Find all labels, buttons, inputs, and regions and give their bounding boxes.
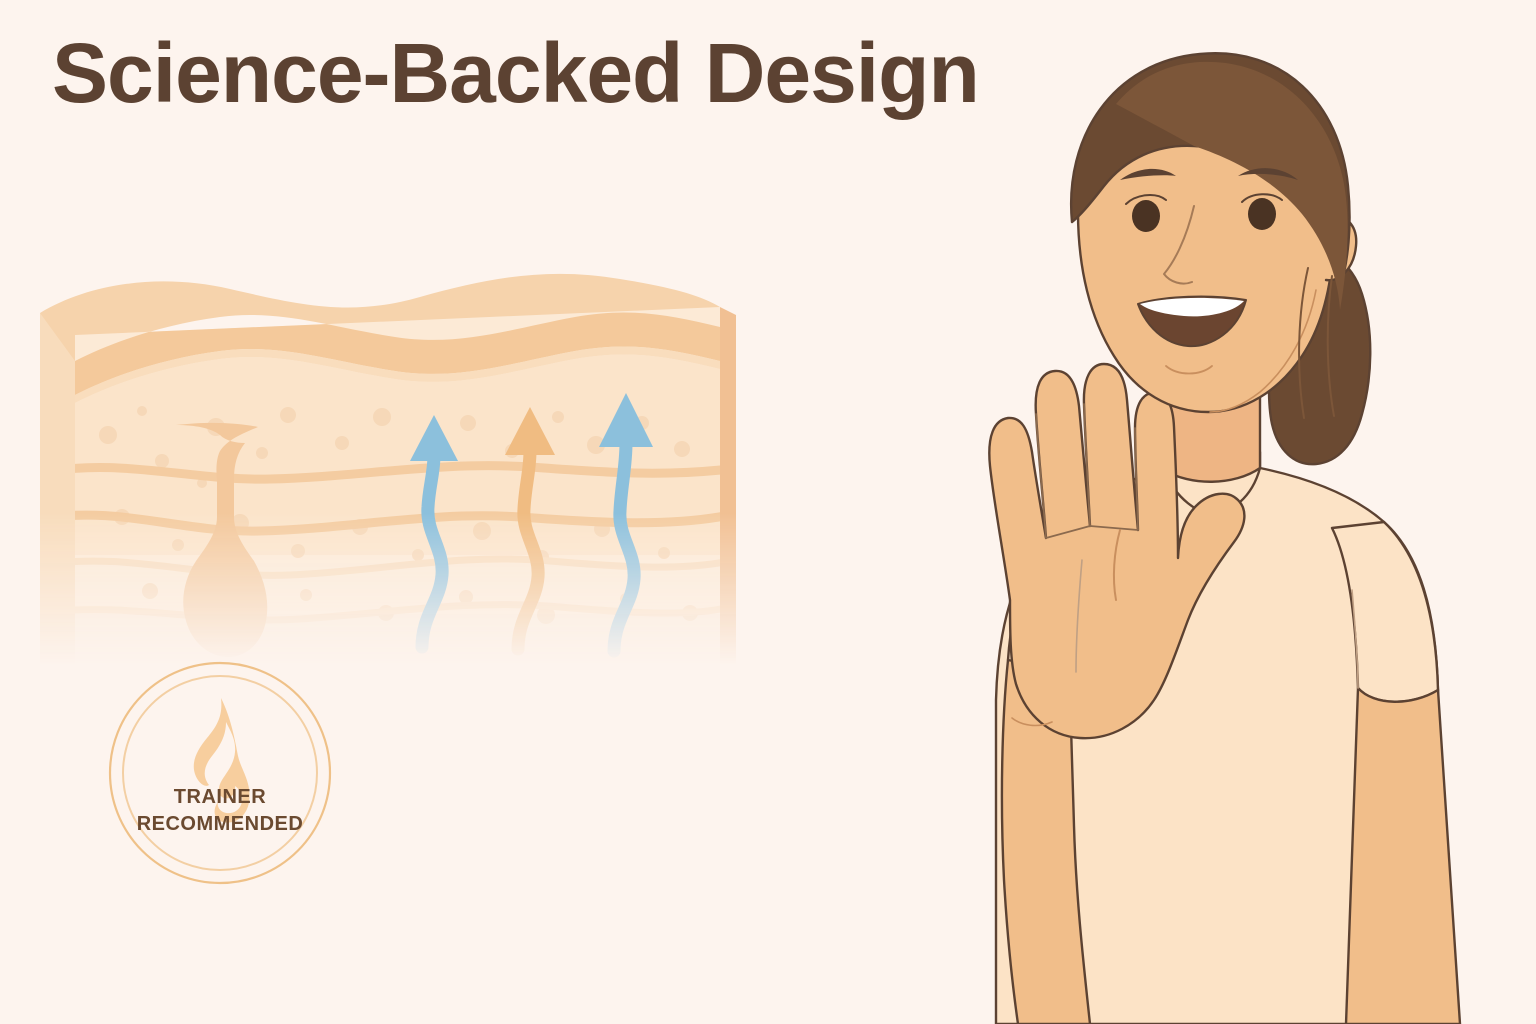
badge-line1: TRAINER xyxy=(174,786,266,808)
skin-cross-section-illustration xyxy=(30,265,750,665)
right-arm xyxy=(1346,688,1460,1024)
badge-line2: RECOMMENDED xyxy=(137,813,304,835)
left-eye xyxy=(1132,200,1160,232)
poster-canvas: Science-Backed Design xyxy=(0,0,1536,1024)
right-eye xyxy=(1248,198,1276,230)
smiling-woman-illustration xyxy=(760,0,1536,1024)
skin-block-right-face xyxy=(720,307,736,665)
skin-block-left-face xyxy=(40,313,75,665)
trainer-recommended-seal[interactable]: TRAINER RECOMMENDED xyxy=(105,658,335,888)
badge-outer-ring xyxy=(110,663,330,883)
badge-inner-ring xyxy=(123,676,317,870)
